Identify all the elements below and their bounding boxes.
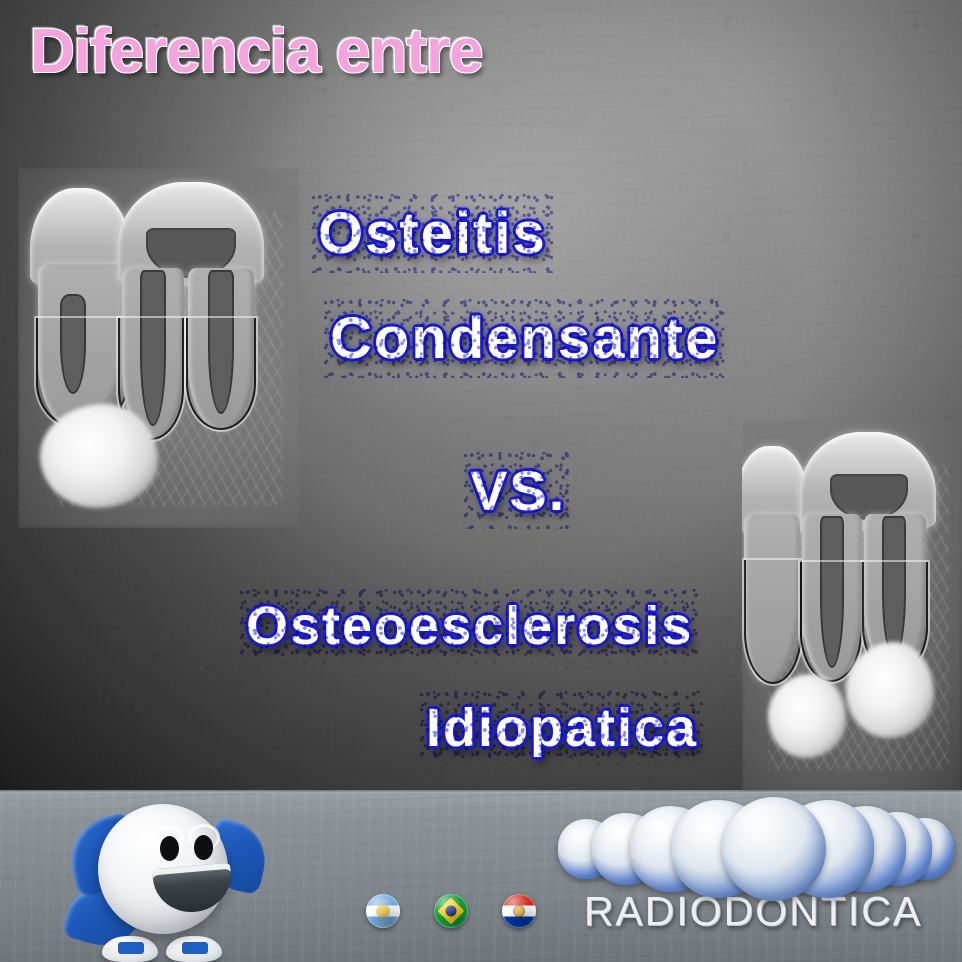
poster-canvas: Diferencia entre Osteitis Condensante VS… (0, 0, 962, 962)
idiopathic-osteosclerosis-lesion-1 (768, 674, 846, 758)
topic-a-line-2-text: Condensante (330, 306, 719, 371)
versus-text: VS. (470, 459, 566, 522)
flag-argentina-icon (366, 894, 400, 928)
flag-paraguay-icon (502, 894, 536, 928)
topic-b-line-1: Osteoesclerosis (246, 595, 693, 657)
brand-orb-row (552, 796, 952, 902)
topic-a-line-1-text: Osteitis (318, 201, 547, 266)
osteoesclerosis-idiopatica-radiograph (742, 420, 962, 792)
mascot-body (98, 804, 228, 934)
radiodontica-mascot (68, 800, 268, 962)
paraguay-emblem-icon (514, 906, 524, 916)
globe-shape (446, 906, 457, 917)
topic-a-line-1: Osteitis (318, 200, 547, 267)
idiopathic-osteosclerosis-lesion-2 (846, 642, 934, 738)
versus-separator: VS. (470, 458, 566, 523)
lamina-dura (744, 560, 802, 684)
mascot-smile (152, 863, 234, 916)
topic-a-line-2: Condensante (330, 305, 719, 372)
osteitis-condensante-radiograph (18, 168, 300, 528)
mascot-left-foot (102, 936, 158, 962)
mascot-right-eye (194, 835, 213, 860)
lamina-dura-distal (186, 318, 256, 430)
mascot-foot-detail (182, 942, 208, 954)
sun-of-may-icon (378, 906, 389, 917)
topic-b-line-2-text: Idiopatica (426, 698, 698, 758)
country-flags (366, 894, 536, 928)
topic-b-line-1-text: Osteoesclerosis (246, 596, 693, 656)
mascot-left-eye (160, 836, 179, 861)
condensing-osteitis-lesion (40, 404, 158, 508)
mascot-right-foot (166, 936, 222, 962)
flag-brazil-icon (434, 894, 468, 928)
page-title: Diferencia entre (30, 16, 483, 87)
brand-orb (722, 797, 826, 901)
topic-b-line-2: Idiopatica (426, 697, 698, 759)
rhombus-shape (438, 898, 465, 925)
mascot-foot-detail (118, 942, 144, 954)
brand-logo: RADIODONTICA (552, 796, 952, 956)
